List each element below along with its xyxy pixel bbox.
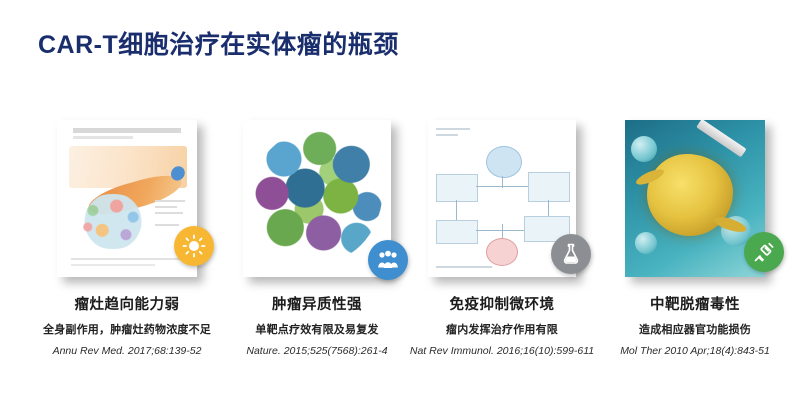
decor-tumor-cell-cluster [77,194,149,249]
decor-arrow [502,224,503,238]
card-caption: 免疫抑制微环境 瘤内发挥治疗作用有限 Nat Rev Immunol. 2016… [407,293,597,358]
card-subheading: 全身副作用，肿瘤灶药物浓度不足 [32,321,222,337]
decor-needle [696,120,746,157]
flask-icon [551,234,591,274]
people-group-icon [368,240,408,280]
card-reference: Annu Rev Med. 2017;68:139-52 [32,344,222,358]
decor-text-line [71,264,155,266]
card-reference: Nat Rev Immunol. 2016;16(10):599-611 [407,344,597,358]
card-caption: 中靶脱瘤毒性 造成相应器官功能损伤 Mol Ther 2010 Apr;18(4… [600,293,790,358]
decor-header-bar [73,128,181,133]
decor-header-bar-2 [73,136,133,139]
decor-arrow [476,230,524,231]
decor-text-line [436,266,492,268]
card-heading: 瘤灶趋向能力弱 [32,293,222,314]
card-caption: 肿瘤异质性强 单靶点疗效有限及易复发 Nature. 2015;525(7568… [222,293,412,358]
cards-row: 瘤灶趋向能力弱 全身副作用，肿瘤灶药物浓度不足 Annu Rev Med. 20… [0,120,809,410]
decor-vessel-band [69,146,187,188]
decor-cell-cluster [251,130,383,262]
decor-arrow [548,200,549,216]
decor-text-line [71,258,183,260]
card-on-target-off-tumor-toxicity[interactable]: 中靶脱瘤毒性 造成相应器官功能损伤 Mol Ther 2010 Apr;18(4… [600,120,790,358]
decor-panel [436,220,478,244]
card-subheading: 造成相应器官功能损伤 [600,321,790,337]
card-reference: Nature. 2015;525(7568):261-4 [222,344,412,358]
card-tumor-heterogeneity[interactable]: 肿瘤异质性强 单靶点疗效有限及易复发 Nature. 2015;525(7568… [222,120,412,358]
decor-arrow [456,200,457,220]
decor-text-line [436,128,470,130]
card-subheading: 瘤内发挥治疗作用有限 [407,321,597,337]
decor-tumor-cell [486,238,518,266]
decor-text-line [155,224,179,226]
slide-root: CAR-T细胞治疗在实体瘤的瓶颈 [0,0,809,413]
page-title: CAR-T细胞治疗在实体瘤的瓶颈 [38,25,399,61]
card-heading: 免疫抑制微环境 [407,293,597,314]
card-heading: 中靶脱瘤毒性 [600,293,790,314]
card-heading: 肿瘤异质性强 [222,293,412,314]
card-subheading: 单靶点疗效有限及易复发 [222,321,412,337]
card-caption: 瘤灶趋向能力弱 全身副作用，肿瘤灶药物浓度不足 Annu Rev Med. 20… [32,293,222,358]
sun-icon [174,226,214,266]
decor-text-line [155,200,185,202]
card-weak-homing[interactable]: 瘤灶趋向能力弱 全身副作用，肿瘤灶药物浓度不足 Annu Rev Med. 20… [32,120,222,358]
decor-immune-cell [635,232,657,254]
decor-text-line [436,134,458,136]
card-immunosuppressive-microenvironment[interactable]: 免疫抑制微环境 瘤内发挥治疗作用有限 Nat Rev Immunol. 2016… [407,120,597,358]
decor-arrow [502,176,503,188]
decor-text-line [155,206,177,208]
decor-text-line [155,212,183,214]
decor-panel [436,174,478,202]
card-reference: Mol Ther 2010 Apr;18(4):843-51 [600,344,790,358]
syringe-icon [744,232,784,272]
decor-panel [528,172,570,202]
decor-immune-cell [486,146,522,178]
decor-immune-cell [631,136,657,162]
decor-macrophage [647,154,733,236]
